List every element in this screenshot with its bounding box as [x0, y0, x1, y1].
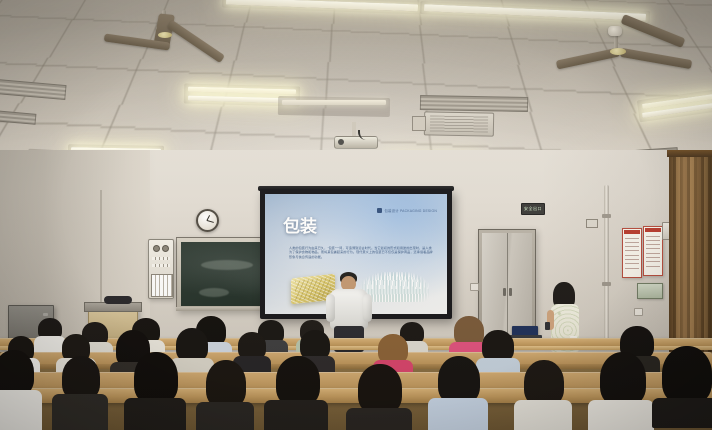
logo-mark	[377, 208, 382, 213]
pipe-bracket	[602, 214, 611, 218]
lecture-hall-photo: 安全出口 包装 包装设计 P	[0, 0, 712, 430]
wall-pipe	[604, 185, 609, 345]
pipe-bracket	[602, 282, 611, 286]
door-handle[interactable]	[503, 288, 506, 296]
door-handle[interactable]	[509, 288, 512, 296]
notice-board-right	[643, 226, 663, 276]
slide-logo-text: 包装设计 PACKAGING DESIGN	[384, 208, 437, 213]
wall-control-panel[interactable]	[148, 239, 174, 299]
slide-title: 包装	[283, 218, 317, 235]
pipe-fitting	[586, 219, 598, 228]
door-leaf[interactable]	[482, 233, 532, 339]
wall-socket[interactable]	[470, 283, 479, 291]
ceiling-fan	[570, 22, 712, 112]
ceiling-fan	[120, 10, 280, 100]
presenter-arm-left	[326, 294, 335, 322]
ac-cassette-unit	[424, 111, 494, 136]
ceiling-vent	[420, 95, 528, 112]
wall-socket[interactable]	[634, 308, 643, 316]
ac-side-panel	[412, 116, 426, 131]
slide-logo: 包装设计 PACKAGING DESIGN	[377, 208, 437, 213]
leaflet-rack	[151, 274, 173, 297]
curtain-rail	[667, 150, 712, 157]
equipment-placard	[637, 283, 663, 299]
exit-sign: 安全出口	[521, 203, 545, 215]
strip-light	[282, 100, 386, 105]
notice-board-left	[622, 228, 642, 278]
window-curtain	[669, 150, 712, 355]
slide-body-text: 人类的包装行为由来已久，“包装”一词，可追溯到远古时代。当它最初的形式和用途的出…	[289, 246, 433, 259]
phone[interactable]	[545, 322, 550, 330]
presenter-arm-right	[363, 294, 372, 322]
dark-object-on-box	[104, 296, 132, 304]
exit-sign-label: 安全出口	[524, 207, 542, 211]
wall-clock	[196, 209, 219, 232]
